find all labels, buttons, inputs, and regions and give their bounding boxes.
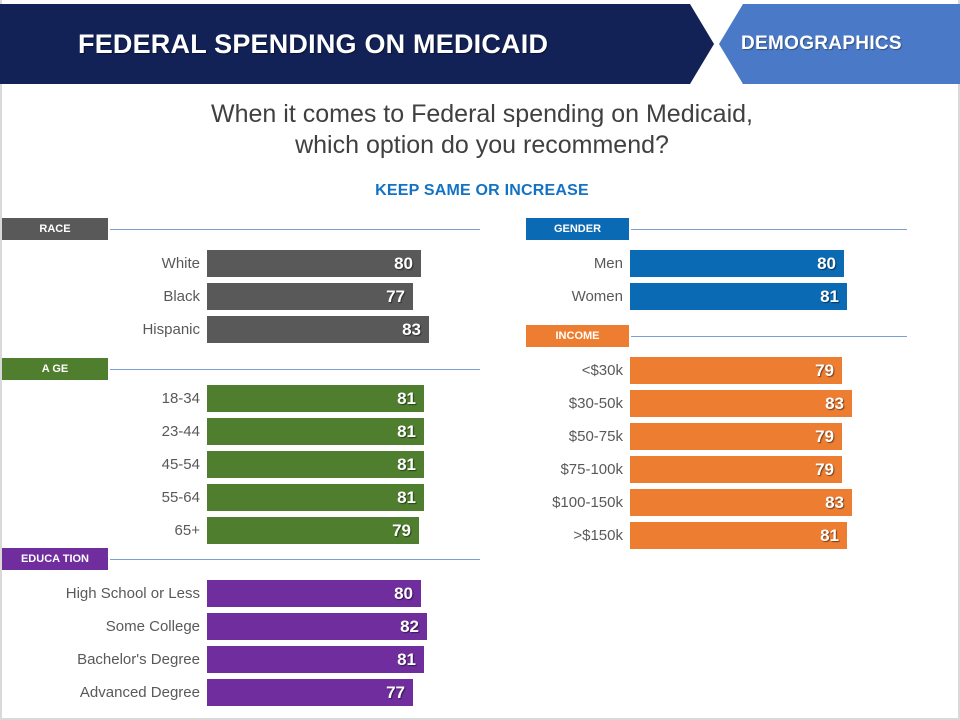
bar-label: $75-100k [442,462,623,477]
bar: 80 [630,250,844,277]
bar-value: 81 [820,287,839,307]
bar-label: 23-44 [2,424,200,439]
bar-value: 79 [815,427,834,447]
bar-label: <$30k [442,363,623,378]
panel-badge-label: RACE [39,223,70,235]
bar-label: 65+ [2,523,200,538]
panel-badge-race: RACE [2,218,108,240]
bar-value: 82 [400,617,419,637]
bar: 81 [207,646,424,673]
question-line-1: When it comes to Federal spending on Med… [2,99,960,130]
header: FEDERAL SPENDING ON MEDICAID DEMOGRAPHIC… [2,4,960,88]
bar-label: 45-54 [2,457,200,472]
page-title: FEDERAL SPENDING ON MEDICAID [78,29,548,60]
panel-divider-gender [631,229,907,230]
bar: 79 [630,357,842,384]
question-text: When it comes to Federal spending on Med… [2,99,960,161]
panel-badge-age: A GE [2,358,108,380]
bar: 81 [207,385,424,412]
bar: 79 [630,423,842,450]
bar-value: 81 [397,389,416,409]
bar: 81 [207,484,424,511]
bar-label: Advanced Degree [2,685,200,700]
bar-label: 18-34 [2,391,200,406]
panel-badge-label: A GE [42,363,69,375]
bar: 80 [207,250,421,277]
bar-value: 77 [386,683,405,703]
panel-badge-gender: GENDER [526,218,629,240]
category-badge: DEMOGRAPHICS [719,4,960,84]
bar-label: Bachelor's Degree [2,652,200,667]
bar-value: 81 [397,488,416,508]
bar-label: Black [2,289,200,304]
bar: 83 [207,316,429,343]
panel-badge-income: INCOME [526,325,629,347]
bar-label: $100-150k [442,495,623,510]
bar: 77 [207,283,413,310]
bar: 83 [630,489,852,516]
bar-value: 83 [402,320,421,340]
bar-value: 79 [815,361,834,381]
bar-label: White [2,256,200,271]
bar: 81 [630,283,847,310]
bar-value: 81 [820,526,839,546]
panel-divider-education [110,559,480,560]
bar-label: Hispanic [2,322,200,337]
bar-label: $30-50k [442,396,623,411]
bar: 82 [207,613,427,640]
bar-value: 79 [392,521,411,541]
slide-canvas: FEDERAL SPENDING ON MEDICAID DEMOGRAPHIC… [0,0,960,720]
bar-label: >$150k [442,528,623,543]
bar-value: 80 [817,254,836,274]
bar: 79 [207,517,419,544]
bar: 81 [207,418,424,445]
panel-badge-label: GENDER [554,223,601,235]
bar-value: 80 [394,584,413,604]
panel-badge-label: EDUCA TION [21,553,89,565]
bar-label: High School or Less [2,586,200,601]
bar-label: $50-75k [442,429,623,444]
bar-label: 55-64 [2,490,200,505]
panel-badge-label: INCOME [556,330,600,342]
bar-label: Men [442,256,623,271]
bar-value: 81 [397,650,416,670]
bar: 80 [207,580,421,607]
bar: 79 [630,456,842,483]
bar-value: 79 [815,460,834,480]
panel-divider-race [110,229,480,230]
bar-value: 83 [825,493,844,513]
bar-value: 81 [397,422,416,442]
bar-label: Women [442,289,623,304]
metric-label: KEEP SAME OR INCREASE [2,182,960,200]
bar: 81 [207,451,424,478]
bar: 77 [207,679,413,706]
bar-value: 77 [386,287,405,307]
bar-label: Some College [2,619,200,634]
bar-value: 81 [397,455,416,475]
category-badge-label: DEMOGRAPHICS [741,33,902,55]
bar: 83 [630,390,852,417]
bar-value: 83 [825,394,844,414]
bar-value: 80 [394,254,413,274]
title-banner: FEDERAL SPENDING ON MEDICAID [0,4,714,84]
panel-badge-education: EDUCA TION [2,548,108,570]
question-line-2: which option do you recommend? [2,130,960,161]
panel-divider-age [110,369,480,370]
panel-divider-income [631,336,907,337]
bar: 81 [630,522,847,549]
